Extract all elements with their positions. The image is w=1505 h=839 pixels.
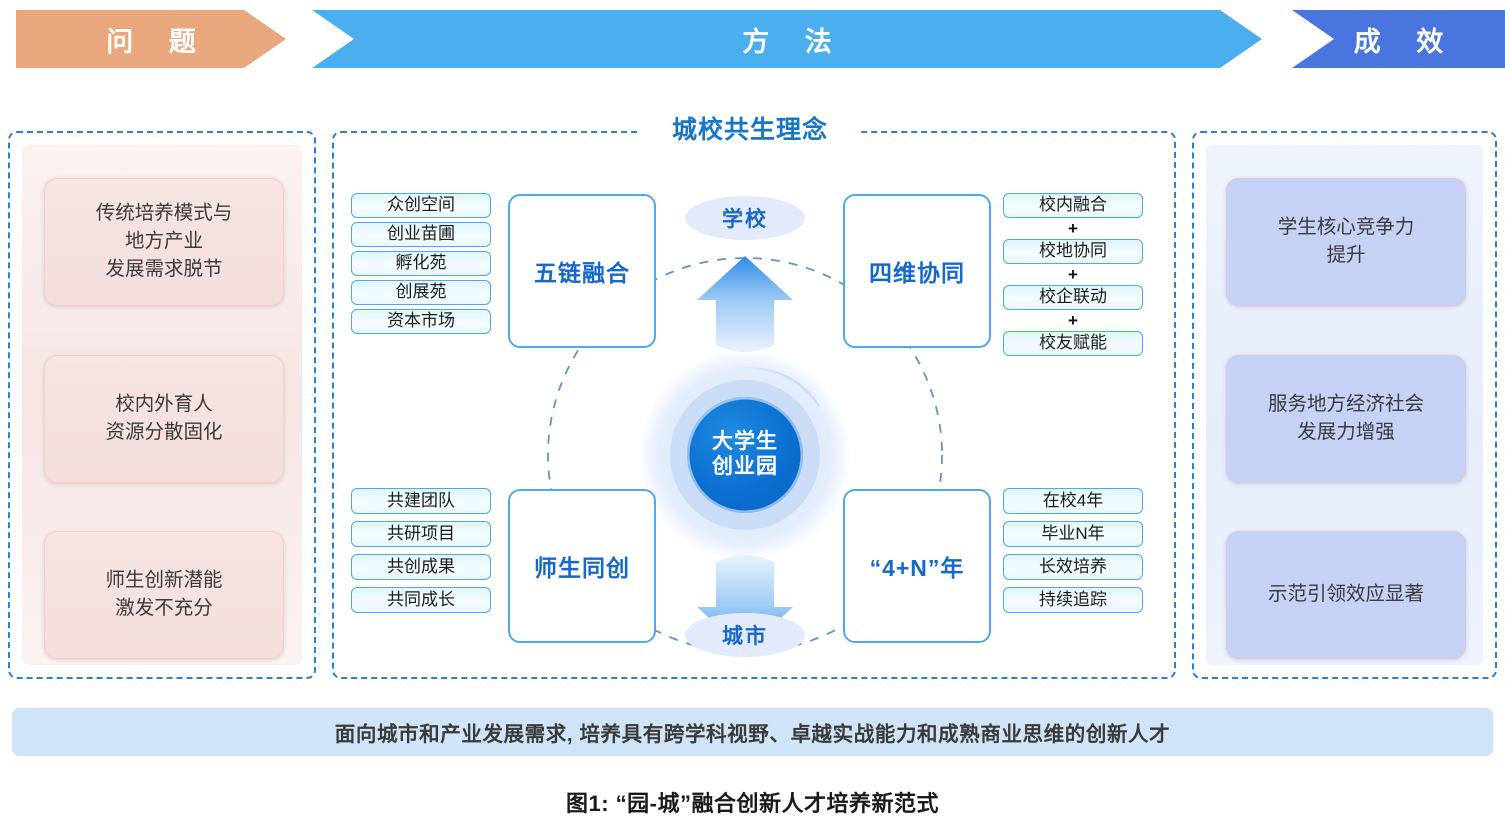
center-core-line2: 创业园 — [712, 455, 778, 480]
pole-label-city-text: 城市 — [722, 620, 768, 650]
chip-item[interactable]: 创展苑 — [351, 280, 491, 305]
summary-banner: 面向城市和产业发展需求, 培养具有跨学科视野、卓越实战能力和成熟商业思维的创新人… — [12, 708, 1493, 756]
problem-card-2-text: 校内外育人 资源分散固化 — [105, 391, 222, 446]
stage-chevron-effect[interactable]: 成 效 — [1292, 10, 1505, 68]
pole-label-city: 城市 — [685, 613, 805, 657]
chip-item[interactable]: 共研项目 — [351, 521, 491, 547]
chip-item[interactable]: 共同成长 — [351, 587, 491, 613]
effect-card-1-text: 学生核心竞争力 提升 — [1278, 214, 1415, 269]
quad-box-shisheng-label: 师生同创 — [534, 549, 630, 583]
quad-box-siwei-label: 四维协同 — [869, 254, 965, 288]
pole-label-school: 学校 — [685, 196, 805, 240]
quad-box-wulian-ronghe[interactable]: 五链融合 — [508, 194, 656, 348]
effect-card-1[interactable]: 学生核心竞争力 提升 — [1226, 178, 1466, 306]
chip-item[interactable]: 毕业N年 — [1003, 521, 1143, 547]
summary-banner-text: 面向城市和产业发展需求, 培养具有跨学科视野、卓越实战能力和成熟商业思维的创新人… — [335, 717, 1171, 747]
chip-separator-plus: + — [1003, 314, 1143, 328]
center-hub: 大学生 创业园 — [640, 350, 850, 560]
chip-item[interactable]: 校内融合 — [1003, 193, 1143, 218]
quad-box-four-plus-n-years[interactable]: “4+N”年 — [843, 489, 991, 643]
chip-item[interactable]: 资本市场 — [351, 309, 491, 334]
effect-card-3-text: 示范引领效应显著 — [1268, 581, 1424, 609]
quad-box-wulian-label: 五链融合 — [534, 254, 630, 288]
problem-panel: 传统培养模式与 地方产业 发展需求脱节 校内外育人 资源分散固化 师生创新潜能 … — [8, 131, 316, 679]
stage-label-problem: 问 题 — [92, 20, 210, 59]
chip-item[interactable]: 共建团队 — [351, 488, 491, 514]
chip-list-siwei-xietong: 校内融合 + 校地协同 + 校企联动 + 校友赋能 — [1003, 193, 1143, 360]
chip-separator-plus: + — [1003, 268, 1143, 282]
quad-box-4n-label: “4+N”年 — [870, 549, 965, 583]
chip-item[interactable]: 校地协同 — [1003, 239, 1143, 264]
method-panel-title: 城校共生理念 — [640, 112, 860, 148]
problem-card-2[interactable]: 校内外育人 资源分散固化 — [44, 355, 284, 483]
chip-item[interactable]: 持续追踪 — [1003, 587, 1143, 613]
chip-list-wulian-ronghe: 众创空间 创业苗圃 孵化苑 创展苑 资本市场 — [351, 193, 491, 338]
problem-card-3-text: 师生创新潜能 激发不充分 — [105, 567, 222, 622]
chip-item[interactable]: 长效培养 — [1003, 554, 1143, 580]
problem-card-3[interactable]: 师生创新潜能 激发不充分 — [44, 531, 284, 659]
effect-card-3[interactable]: 示范引领效应显著 — [1226, 531, 1466, 659]
pole-label-school-text: 学校 — [722, 203, 768, 233]
stage-chevron-problem[interactable]: 问 题 — [16, 10, 286, 68]
quad-box-siwei-xietong[interactable]: 四维协同 — [843, 194, 991, 348]
problem-card-1[interactable]: 传统培养模式与 地方产业 发展需求脱节 — [44, 178, 284, 306]
quad-box-shisheng-tongchuang[interactable]: 师生同创 — [508, 489, 656, 643]
effect-card-2[interactable]: 服务地方经济社会 发展力增强 — [1226, 355, 1466, 483]
chip-item[interactable]: 校企联动 — [1003, 285, 1143, 310]
stage-label-effect: 成 效 — [1340, 20, 1458, 59]
chip-item[interactable]: 共创成果 — [351, 554, 491, 580]
chip-list-shisheng-tongchuang: 共建团队 共研项目 共创成果 共同成长 — [351, 488, 491, 620]
center-core-line1: 大学生 — [712, 430, 778, 455]
problem-card-1-text: 传统培养模式与 地方产业 发展需求脱节 — [96, 200, 233, 283]
chip-item[interactable]: 众创空间 — [351, 193, 491, 218]
chip-separator-plus: + — [1003, 222, 1143, 236]
chip-item[interactable]: 在校4年 — [1003, 488, 1143, 514]
stage-header-band: 问 题 方 法 成 效 — [0, 0, 1505, 72]
chip-item[interactable]: 创业苗圃 — [351, 222, 491, 247]
effect-panel: 学生核心竞争力 提升 服务地方经济社会 发展力增强 示范引领效应显著 — [1192, 131, 1497, 679]
effect-card-2-text: 服务地方经济社会 发展力增强 — [1268, 391, 1424, 446]
chip-list-four-plus-n-years: 在校4年 毕业N年 长效培养 持续追踪 — [1003, 488, 1143, 620]
center-core-circle[interactable]: 大学生 创业园 — [687, 397, 803, 513]
stage-chevron-method[interactable]: 方 法 — [312, 10, 1262, 68]
stage-label-method: 方 法 — [728, 20, 846, 59]
chip-item[interactable]: 孵化苑 — [351, 251, 491, 276]
figure-caption: 图1: “园-城”融合创新人才培养新范式 — [0, 786, 1505, 818]
chip-item[interactable]: 校友赋能 — [1003, 331, 1143, 356]
